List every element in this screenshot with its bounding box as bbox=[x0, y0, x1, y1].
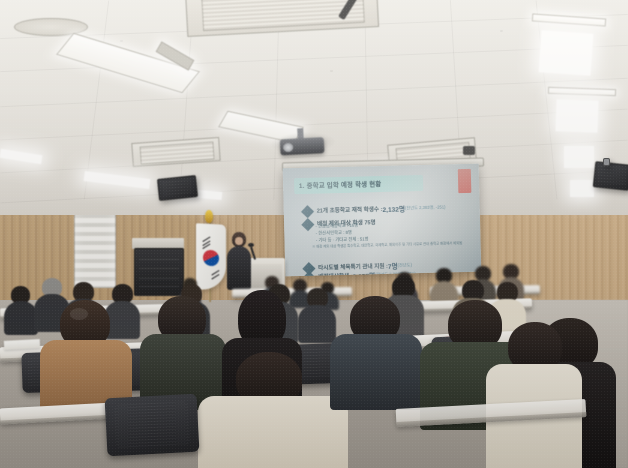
audience-person-mid-1 bbox=[4, 286, 38, 332]
presenter-body bbox=[227, 246, 251, 290]
ceiling-light-9 bbox=[539, 30, 594, 76]
flag-finial-icon bbox=[205, 210, 213, 223]
projection-screen: 1. 중학교 입학 예정 학생 현황 ◆ 21개 초등학교 재적 학생수 : 2… bbox=[283, 164, 482, 277]
taeguk-symbol-icon bbox=[200, 247, 222, 268]
seminar-room-screenshot: 1. 중학교 입학 예정 학생 현황 ◆ 21개 초등학교 재적 학생수 : 2… bbox=[0, 0, 628, 468]
audience-person-front-cream2 bbox=[486, 322, 582, 468]
chair-bottom-1 bbox=[105, 394, 200, 457]
handout-paper-left bbox=[4, 339, 40, 350]
slide-title-bar: 1. 중학교 입학 예정 학생 현황 bbox=[294, 175, 424, 194]
presenter bbox=[224, 232, 254, 294]
bullet-marker-4: ◆ bbox=[303, 267, 316, 276]
ceiling-light-12 bbox=[570, 180, 594, 197]
ceiling-ac-slot-right2 bbox=[463, 146, 475, 155]
ceiling-projector bbox=[279, 127, 335, 162]
bullet-marker-2: ◆ bbox=[301, 214, 314, 234]
bullet-note-1: (전년도 2,383명, -251) bbox=[405, 205, 446, 212]
presenter-face bbox=[235, 237, 243, 245]
front-navy-body bbox=[330, 334, 422, 410]
bullet-value-1: 2,132명 bbox=[382, 204, 405, 215]
wall-speaker-left bbox=[157, 175, 198, 201]
presentation-slide: 1. 중학교 입학 예정 학생 현황 ◆ 21개 초등학교 재적 학생수 : 2… bbox=[283, 164, 482, 277]
slide-subitem-2-text: - 한산서민학교 : 8명 bbox=[316, 230, 352, 237]
audience-person-front-cream bbox=[198, 352, 348, 468]
audience-person-front-navy bbox=[330, 296, 422, 404]
front-cream-body bbox=[198, 396, 348, 468]
slide-subitem-2: - 한산서민학교 : 8명 bbox=[316, 230, 352, 237]
audience-person-front-tan bbox=[40, 300, 132, 410]
ceiling-light-10 bbox=[555, 99, 598, 132]
slide-title-accent bbox=[458, 169, 471, 193]
wall-speaker-right-bracket bbox=[603, 158, 610, 166]
slide-title-text: 1. 중학교 입학 예정 학생 현황 bbox=[294, 179, 382, 190]
wall-speaker-right bbox=[593, 161, 628, 191]
ceiling-light-11 bbox=[564, 146, 594, 168]
